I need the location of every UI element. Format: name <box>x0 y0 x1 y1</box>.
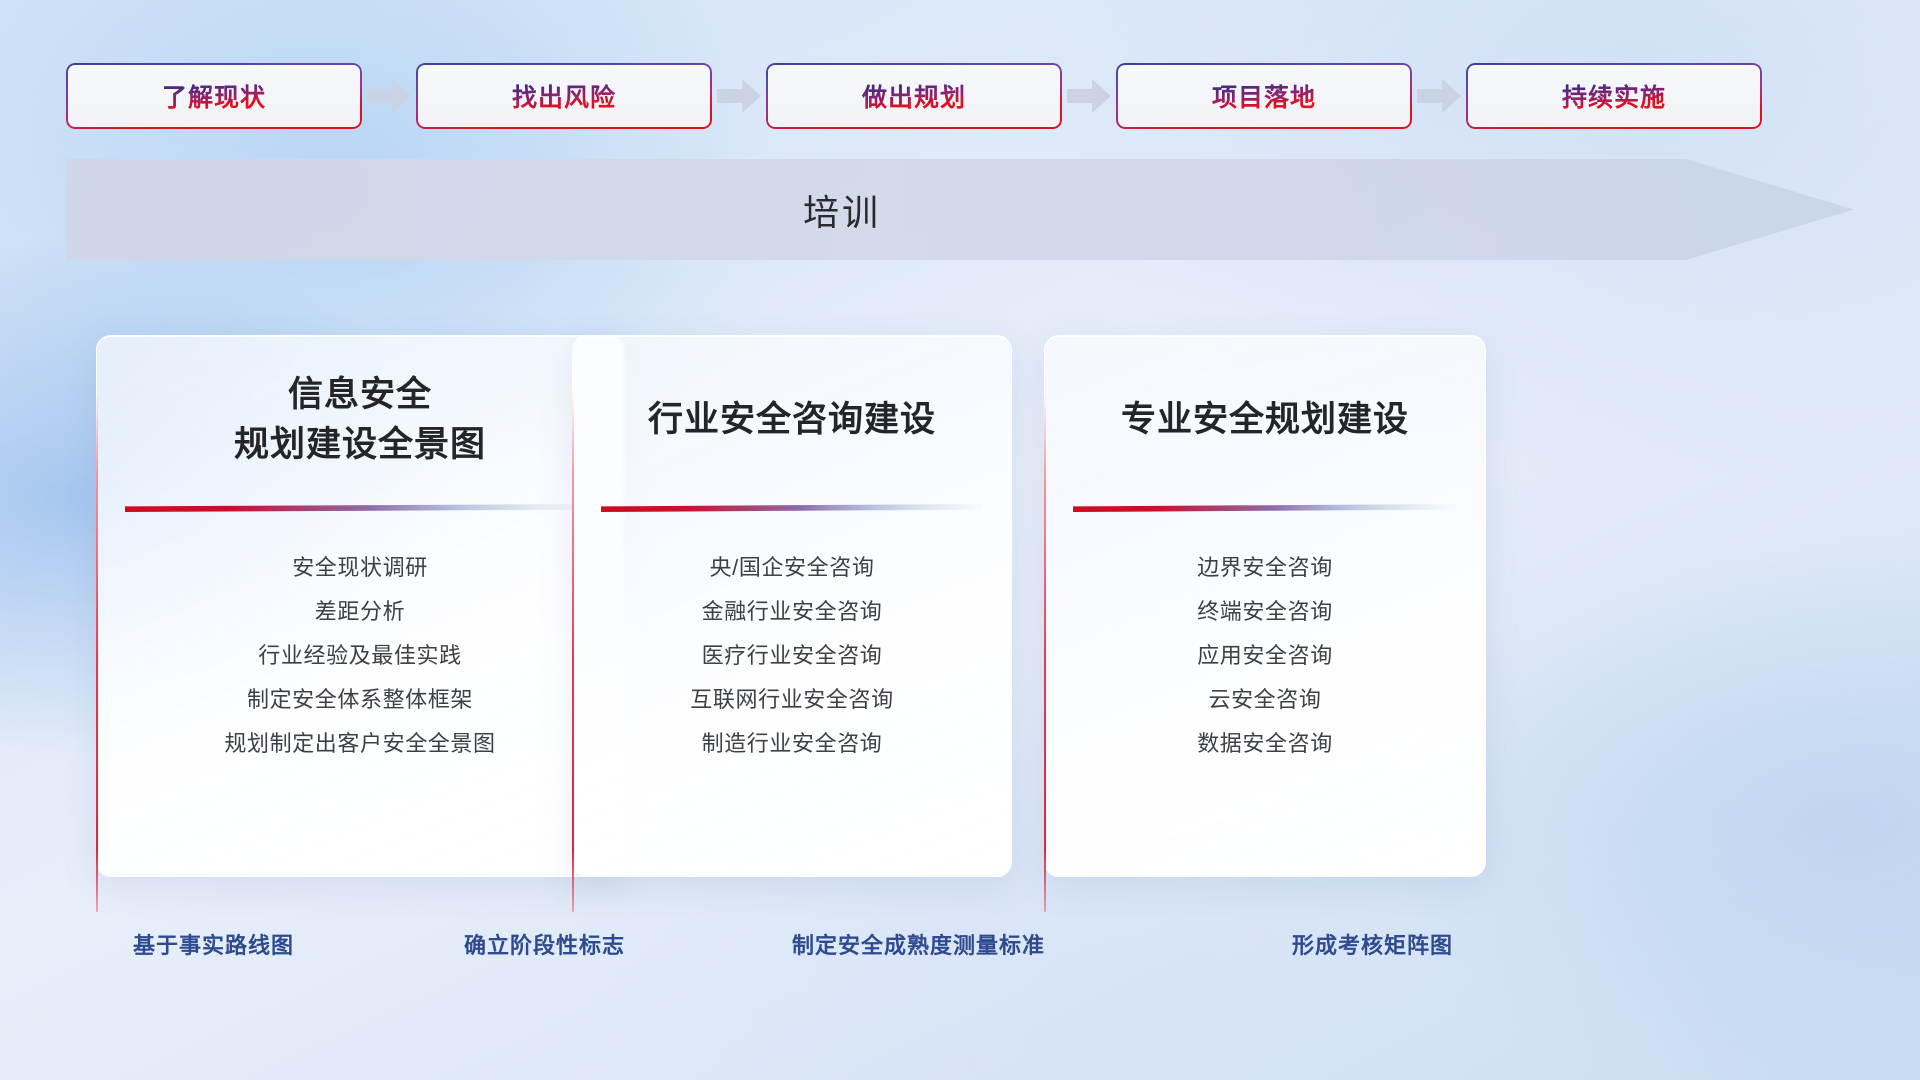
card-row: 信息安全 规划建设全景图 安全现状调研 差距分析 <box>0 335 1920 895</box>
list-item: 应用安全咨询 <box>1197 634 1333 678</box>
card-title: 信息安全 规划建设全景图 <box>234 370 486 469</box>
step-box-2[interactable]: 找出风险 <box>416 63 712 129</box>
list-item: 制定安全体系整体框架 <box>247 678 473 722</box>
step-label: 了解现状 <box>162 78 266 114</box>
step-label: 持续实施 <box>1562 78 1666 114</box>
card-item-list: 安全现状调研 差距分析 行业经验及最佳实践 制定安全体系整体框架 规划制定出客户… <box>97 512 623 766</box>
card-item-list: 边界安全咨询 终端安全咨询 应用安全咨询 云安全咨询 数据安全咨询 <box>1045 512 1485 766</box>
card-title-line: 专业安全规划建设 <box>1121 395 1409 445</box>
step-box-1[interactable]: 了解现状 <box>66 63 362 129</box>
card-header: 信息安全 规划建设全景图 <box>97 336 623 504</box>
footnote-label: 基于事实路线图 <box>133 928 294 960</box>
training-banner: 培训 <box>66 159 1854 260</box>
card-header: 专业安全规划建设 <box>1045 336 1485 504</box>
card-divider <box>601 504 983 512</box>
card-title: 专业安全规划建设 <box>1121 395 1409 445</box>
banner-title: 培训 <box>66 159 1618 260</box>
step-label: 找出风险 <box>512 78 616 114</box>
card-title: 行业安全咨询建设 <box>648 395 936 445</box>
card-divider <box>1073 504 1457 512</box>
step-label: 做出规划 <box>862 78 966 114</box>
card-title-line: 规划建设全景图 <box>234 420 486 470</box>
card-header: 行业安全咨询建设 <box>573 336 1011 504</box>
footnote-row: 基于事实路线图 确立阶段性标志 制定安全成熟度测量标准 形成考核矩阵图 <box>0 928 1920 974</box>
list-item: 安全现状调研 <box>292 546 428 590</box>
footnote-label: 形成考核矩阵图 <box>1292 928 1453 960</box>
card-professional-security-planning[interactable]: 专业安全规划建设 边界安全咨询 终端安全咨询 应用安全 <box>1044 335 1486 877</box>
step-label: 项目落地 <box>1212 78 1316 114</box>
chevron-right-icon <box>1062 63 1116 129</box>
list-item: 云安全咨询 <box>1208 678 1321 722</box>
list-item: 边界安全咨询 <box>1197 546 1333 590</box>
list-item: 医疗行业安全咨询 <box>702 634 883 678</box>
chevron-right-icon <box>712 63 766 129</box>
step-box-4[interactable]: 项目落地 <box>1116 63 1412 129</box>
step-box-5[interactable]: 持续实施 <box>1466 63 1762 129</box>
footnote-label: 确立阶段性标志 <box>464 928 625 960</box>
card-industry-security-consulting[interactable]: 行业安全咨询建设 央/国企安全咨询 金融行业安全咨询 <box>572 335 1012 877</box>
list-item: 行业经验及最佳实践 <box>258 634 461 678</box>
footnote-label: 制定安全成熟度测量标准 <box>792 928 1045 960</box>
list-item: 终端安全咨询 <box>1197 590 1333 634</box>
card-divider <box>125 504 595 512</box>
card-title-line: 信息安全 <box>234 370 486 420</box>
list-item: 制造行业安全咨询 <box>702 722 883 766</box>
card-title-line: 行业安全咨询建设 <box>648 395 936 445</box>
list-item: 数据安全咨询 <box>1197 722 1333 766</box>
list-item: 互联网行业安全咨询 <box>690 678 893 722</box>
list-item: 央/国企安全咨询 <box>710 546 875 590</box>
list-item: 差距分析 <box>315 590 405 634</box>
list-item: 规划制定出客户安全全景图 <box>224 722 495 766</box>
process-step-row: 了解现状 找出风险 做出规划 项目落地 持续实施 <box>66 63 1856 129</box>
step-box-3[interactable]: 做出规划 <box>766 63 1062 129</box>
chevron-right-icon <box>362 63 416 129</box>
list-item: 金融行业安全咨询 <box>702 590 883 634</box>
card-item-list: 央/国企安全咨询 金融行业安全咨询 医疗行业安全咨询 互联网行业安全咨询 制造行… <box>573 512 1011 766</box>
card-info-security-blueprint[interactable]: 信息安全 规划建设全景图 安全现状调研 差距分析 <box>96 335 624 877</box>
chevron-right-icon <box>1412 63 1466 129</box>
